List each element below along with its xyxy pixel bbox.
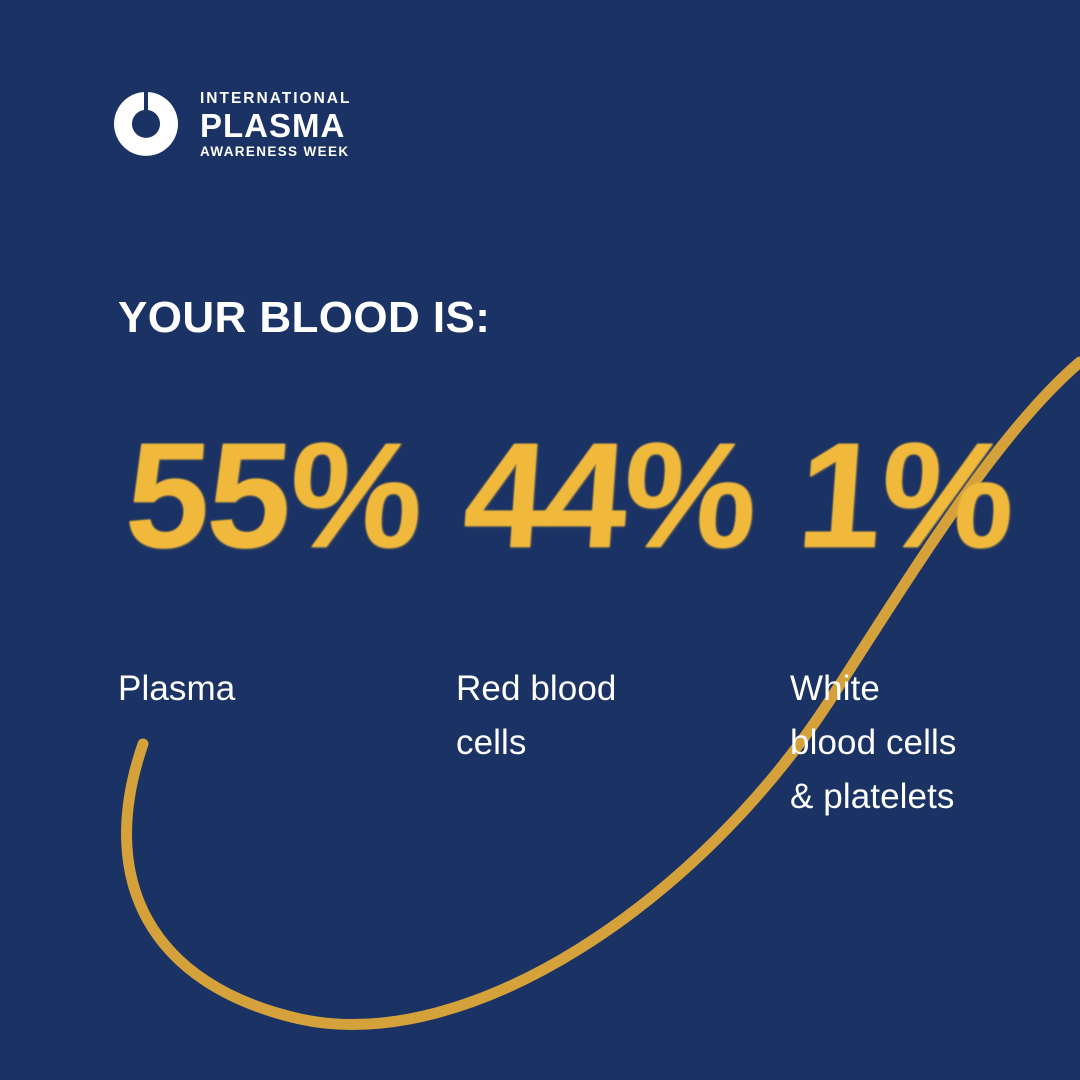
stat-column-plasma: 55% Plasma [118, 420, 448, 716]
stat-label-plasma: Plasma [118, 662, 448, 716]
blood-composition-stats: 55% Plasma 44% Red bloodcells 1% Whitebl… [0, 420, 1080, 850]
stat-column-white-blood-cells: 1% Whiteblood cells& platelets [790, 420, 1040, 824]
stat-column-red-blood-cells: 44% Red bloodcells [456, 420, 776, 770]
stat-value-plasma: 55% [118, 420, 462, 620]
logo-line-plasma: PLASMA [200, 109, 351, 144]
logo-wordmark: INTERNATIONAL PLASMA AWARENESS WEEK [200, 88, 351, 159]
plasma-drop-ring-icon [112, 88, 184, 160]
logo-lockup: INTERNATIONAL PLASMA AWARENESS WEEK [112, 88, 351, 160]
stat-value-red-blood-cells: 44% [456, 420, 790, 620]
stat-label-red-blood-cells: Red bloodcells [456, 662, 776, 770]
plasma-awareness-poster: INTERNATIONAL PLASMA AWARENESS WEEK YOUR… [0, 0, 1080, 1080]
stat-value-white-blood-cells: 1% [790, 420, 1054, 620]
stat-label-white-blood-cells: Whiteblood cells& platelets [790, 662, 1040, 824]
logo-line-international: INTERNATIONAL [200, 90, 351, 108]
logo-line-awareness-week: AWARENESS WEEK [200, 144, 351, 160]
page-title: YOUR BLOOD IS: [118, 296, 490, 340]
